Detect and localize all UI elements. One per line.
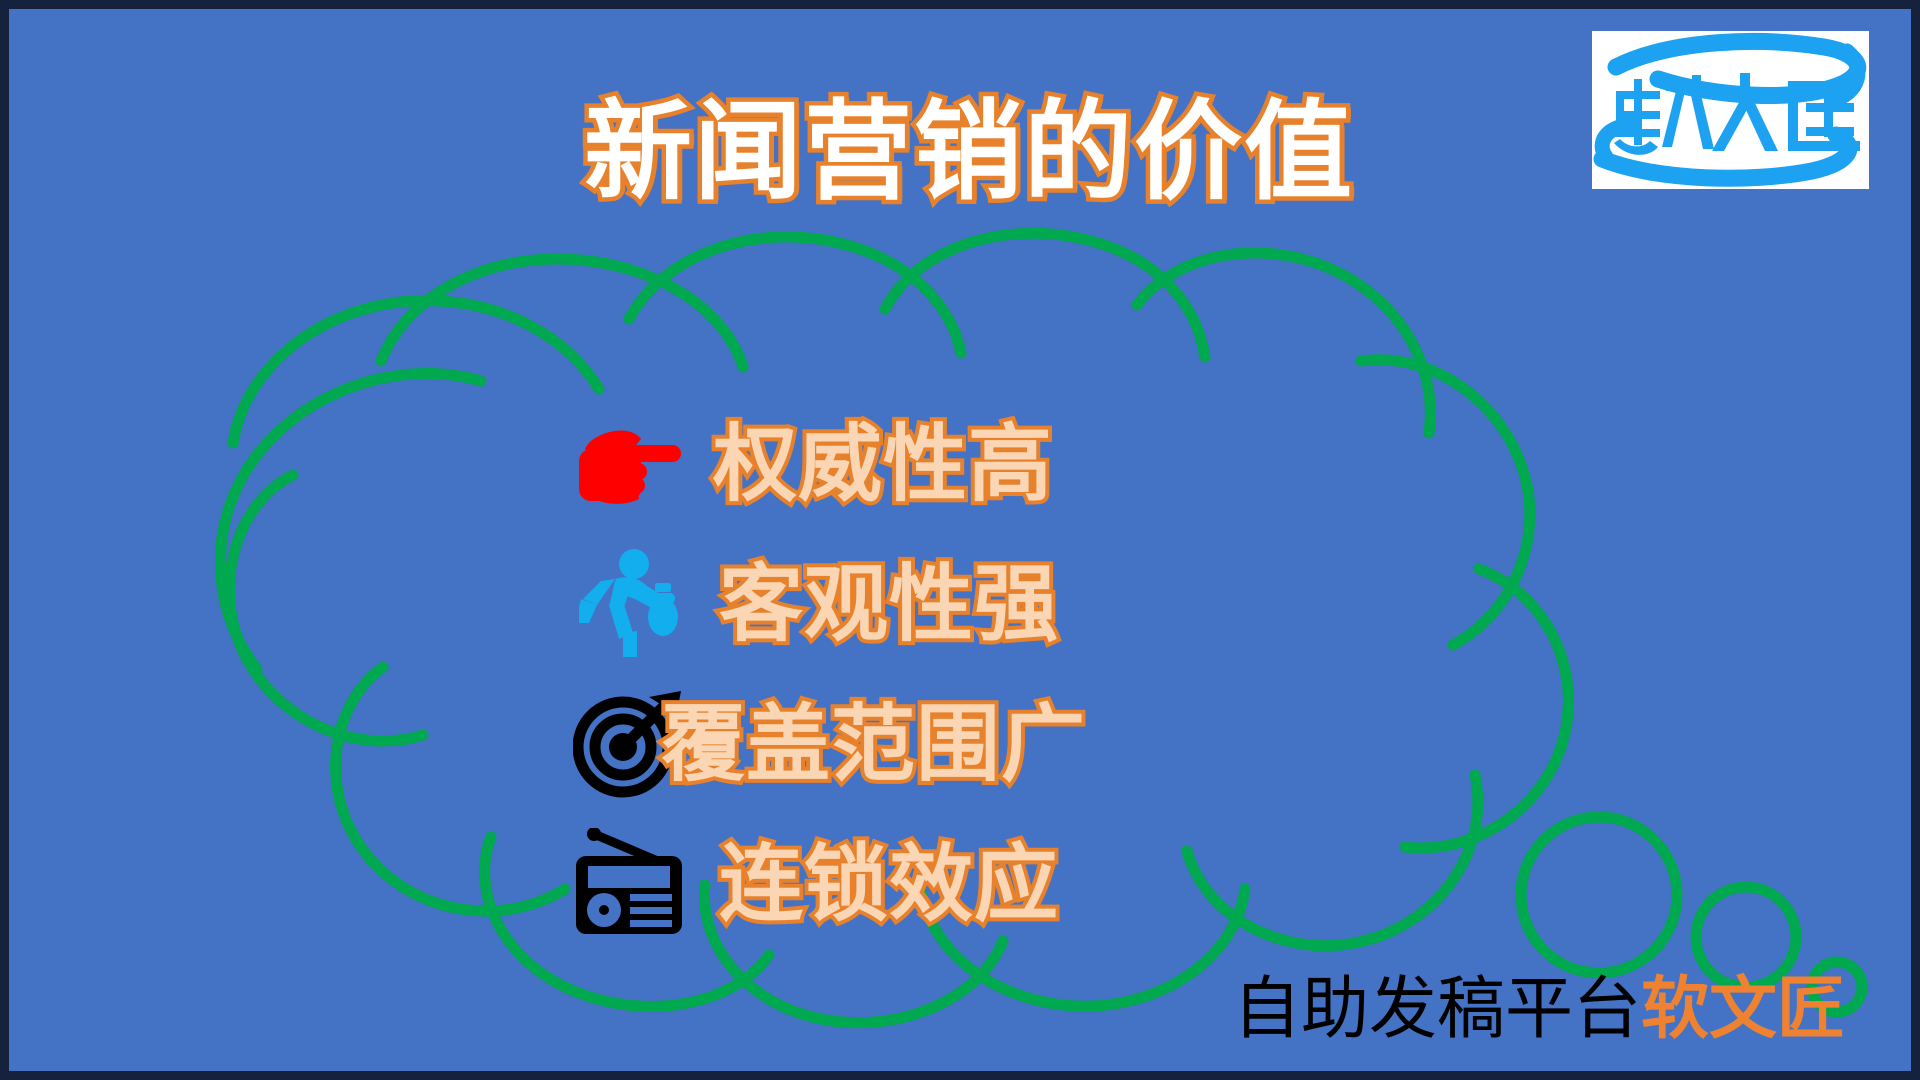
cloud-arc-top-left	[381, 259, 743, 367]
footer-brand: 软文匠	[1641, 971, 1845, 1047]
thought-circle-large	[1521, 817, 1677, 973]
list-item-label: 连锁效应	[719, 842, 1059, 926]
value-list: 权威性高	[565, 394, 1465, 954]
footer-tagline: 自助发稿平台软文匠	[1233, 975, 1845, 1043]
footer-prefix: 自助发稿平台	[1233, 971, 1641, 1047]
cloud-arc-left-lower	[336, 667, 565, 911]
cloud-arc-left-mid2	[229, 475, 423, 741]
list-item-label: 覆盖范围广	[661, 702, 1086, 786]
cloud-arc-top-mid1	[629, 237, 961, 353]
list-item: 权威性高	[565, 394, 1465, 534]
list-item-label: 权威性高	[713, 422, 1053, 506]
brand-logo	[1592, 31, 1869, 189]
running-person-icon	[565, 542, 697, 666]
list-item-label: 客观性强	[719, 562, 1059, 646]
radio-icon	[565, 822, 697, 946]
list-item: 覆盖范围广	[565, 674, 1465, 814]
cloud-arc-top-mid2	[885, 233, 1205, 357]
cloud-arc-upper-left	[233, 301, 599, 443]
slide-canvas: 新闻营销的价值	[0, 0, 1920, 1080]
list-item: 连锁效应	[565, 814, 1465, 954]
list-item: 客观性强	[565, 534, 1465, 674]
cloud-arc-left-mid	[220, 373, 481, 669]
pointing-hand-icon	[565, 402, 697, 526]
ruanwenjiang-logo-icon	[1592, 31, 1869, 189]
